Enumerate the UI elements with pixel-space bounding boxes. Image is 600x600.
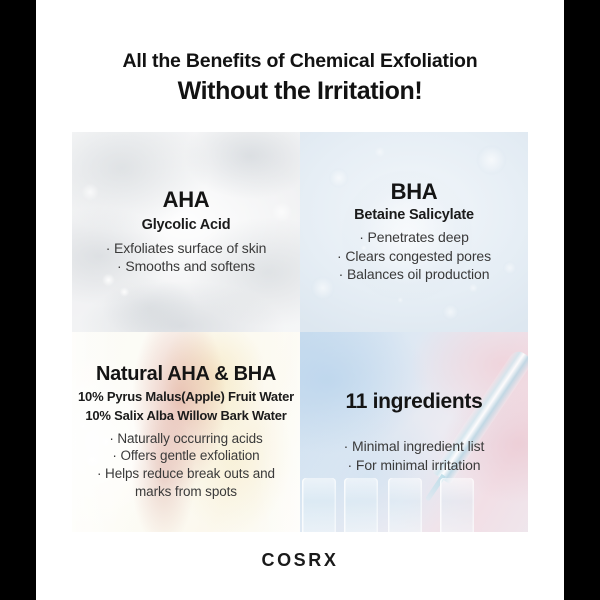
quadrant-natural: Natural AHA & BHA 10% Pyrus Malus(Apple)… <box>72 332 300 532</box>
quadrant-aha-content: AHA Glycolic Acid · Exfoliates surface o… <box>72 132 300 332</box>
aha-subtitle: Glycolic Acid <box>142 216 231 234</box>
poster-card: All the Benefits of Chemical Exfoliation… <box>36 0 564 600</box>
quadrant-bha: BHA Betaine Salicylate · Penetrates deep… <box>300 132 528 332</box>
headline-line-2: Without the Irritation! <box>36 75 564 108</box>
aha-bullet-1: · Exfoliates surface of skin <box>106 239 267 257</box>
ingredients-title: 11 ingredients <box>345 390 482 413</box>
natural-bullet-3: · Helps reduce break outs and marks from… <box>86 465 286 501</box>
natural-bullet-2: · Offers gentle exfoliation <box>112 447 259 465</box>
natural-title: Natural AHA & BHA <box>96 363 276 385</box>
quadrant-ingredients: 11 ingredients · Minimal ingredient list… <box>300 332 528 532</box>
natural-subtitle-2: 10% Salix Alba Willow Bark Water <box>85 408 286 424</box>
natural-subtitle-1: 10% Pyrus Malus(Apple) Fruit Water <box>78 389 294 405</box>
ingredients-bullet-1: · Minimal ingredient list <box>344 437 485 455</box>
poster-root: All the Benefits of Chemical Exfoliation… <box>0 0 600 600</box>
aha-bullet-2: · Smooths and softens <box>117 257 255 275</box>
bha-title: BHA <box>391 180 438 204</box>
brand-wordmark: COSRX <box>36 550 564 571</box>
headline-block: All the Benefits of Chemical Exfoliation… <box>36 50 564 108</box>
natural-bullet-1: · Naturally occurring acids <box>109 430 262 448</box>
aha-title: AHA <box>163 188 210 212</box>
bha-bullet-2: · Clears congested pores <box>337 247 491 265</box>
letterbox-left <box>0 0 36 600</box>
bha-bullet-3: · Balances oil production <box>339 265 490 283</box>
headline-line-1: All the Benefits of Chemical Exfoliation <box>36 50 564 72</box>
benefits-grid: AHA Glycolic Acid · Exfoliates surface o… <box>72 132 528 532</box>
bha-subtitle: Betaine Salicylate <box>354 206 474 224</box>
ingredients-bullet-2: · For minimal irritation <box>348 456 481 474</box>
bha-bullet-1: · Penetrates deep <box>359 228 469 246</box>
quadrant-bha-content: BHA Betaine Salicylate · Penetrates deep… <box>300 132 528 332</box>
quadrant-aha: AHA Glycolic Acid · Exfoliates surface o… <box>72 132 300 332</box>
letterbox-right <box>564 0 600 600</box>
quadrant-ingredients-content: 11 ingredients · Minimal ingredient list… <box>300 332 528 532</box>
quadrant-natural-content: Natural AHA & BHA 10% Pyrus Malus(Apple)… <box>72 332 300 532</box>
